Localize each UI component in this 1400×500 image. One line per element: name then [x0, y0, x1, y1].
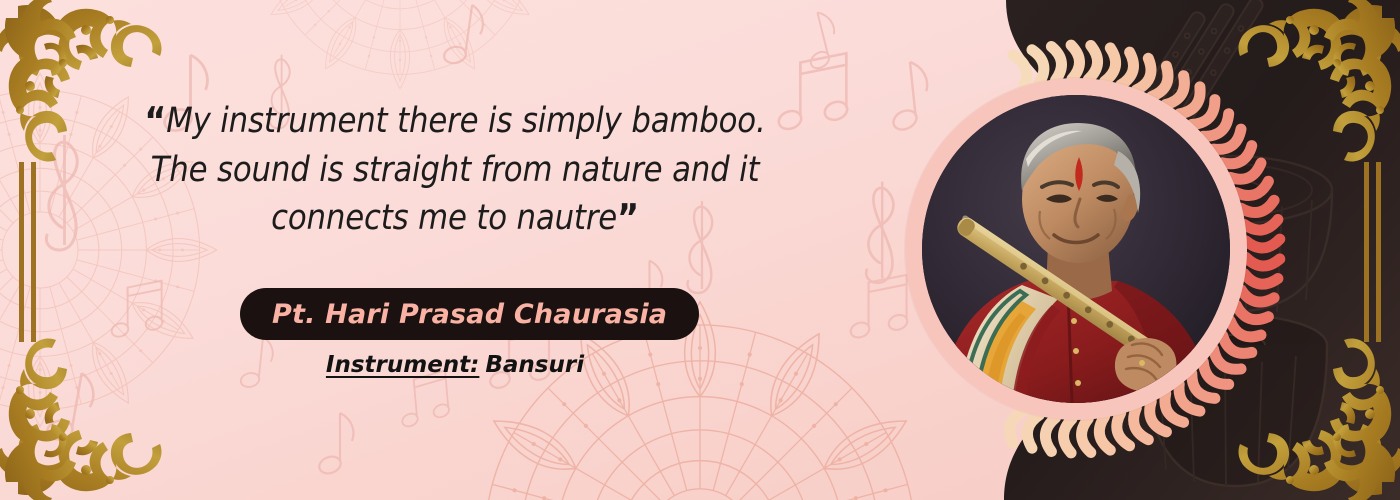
- music-note-icon: [317, 413, 354, 476]
- quote-line-2: The sound is straight from nature and it: [151, 150, 760, 190]
- close-quote-mark: ”: [617, 196, 639, 240]
- arc-ring-stroke: [1045, 418, 1055, 452]
- arc-ring-stroke: [1071, 45, 1079, 79]
- music-note-icon: [797, 9, 843, 72]
- arc-ring-stroke: [1051, 47, 1061, 81]
- arc-ring-stroke: [1246, 257, 1280, 266]
- artist-name-pill: Pt. Hari Prasad Chaurasia: [240, 288, 699, 340]
- portrait-container: [905, 78, 1247, 420]
- music-note-icon: [43, 368, 97, 447]
- beamed-notes-icon: [110, 281, 164, 339]
- filigree-corner-icon: [1230, 0, 1400, 170]
- artist-name-label: Pt. Hari Prasad Chaurasia: [272, 299, 667, 330]
- music-note-icon: [440, 2, 485, 70]
- quote-line-1: My instrument there is simply bamboo.: [166, 101, 765, 141]
- arc-ring-stroke: [1246, 239, 1280, 248]
- instrument-line: Instrument:Bansuri: [60, 352, 850, 378]
- arc-ring-stroke: [1063, 419, 1071, 453]
- treble-clef-icon: [866, 182, 893, 283]
- quote-line-3: connects me to nautre: [271, 198, 617, 238]
- beamed-notes-icon: [849, 275, 910, 340]
- instrument-value: Bansuri: [485, 352, 584, 378]
- open-quote-mark: “: [144, 99, 166, 143]
- instrument-label: Instrument:: [326, 352, 479, 378]
- arc-ring-stroke: [1099, 417, 1110, 451]
- arc-ring-stroke: [1244, 274, 1278, 285]
- quote-block: “My instrument there is simply bamboo. T…: [60, 96, 850, 244]
- quote-banner: “My instrument there is simply bamboo. T…: [0, 0, 1400, 500]
- quote-text: “My instrument there is simply bamboo. T…: [107, 96, 802, 244]
- beamed-notes-icon: [396, 370, 452, 429]
- arc-ring-stroke: [1082, 419, 1091, 453]
- left-edge-gold-lines: [19, 162, 36, 342]
- mandala-icon: [251, 0, 549, 89]
- arc-ring-stroke: [1244, 220, 1278, 231]
- filigree-corner-icon: [1230, 330, 1400, 500]
- arc-ring-stroke: [1105, 48, 1116, 82]
- arc-ring-stroke: [1088, 46, 1097, 80]
- right-edge-gold-lines: [1364, 162, 1381, 342]
- portrait-photo: [922, 95, 1230, 403]
